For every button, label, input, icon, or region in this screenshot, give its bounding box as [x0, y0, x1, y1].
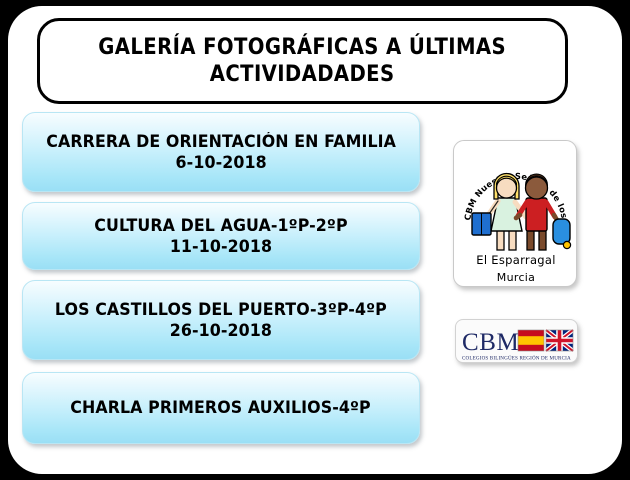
activity-name: CULTURA DEL AGUA-1ºP-2ºP — [94, 216, 347, 235]
activity-item-1[interactable]: CARRERA DE ORIENTACIÓN EN FAMILIA 6-10-2… — [22, 112, 420, 192]
activity-text: CARRERA DE ORIENTACIÓN EN FAMILIA 6-10-2… — [46, 131, 396, 173]
activity-text: LOS CASTILLOS DEL PUERTO-3ºP-4ºP 26-10-2… — [55, 299, 387, 341]
activity-item-4[interactable]: CHARLA PRIMEROS AUXILIOS-4ºP — [22, 372, 420, 444]
activity-name: CARRERA DE ORIENTACIÓN EN FAMILIA — [46, 132, 396, 151]
united-kingdom-flag-icon — [546, 330, 573, 351]
svg-text:Murcia: Murcia — [497, 271, 535, 284]
cbm-acronym: CBM — [462, 329, 519, 356]
cbm-tagline: COLEGIOS BILINGÜES REGIÓN DE MURCIA — [462, 354, 571, 362]
activity-name: CHARLA PRIMEROS AUXILIOS-4ºP — [71, 398, 372, 417]
page-title-line-1: GALERÍA FOTOGRÁFICAS A ÚLTIMAS — [99, 34, 507, 60]
activity-item-2[interactable]: CULTURA DEL AGUA-1ºP-2ºP 11-10-2018 — [22, 202, 420, 270]
spain-flag-icon — [518, 330, 544, 351]
two-children-holding-hands-icon: CBM Nuestra Señora de los Ángeles — [454, 141, 577, 287]
activity-text: CULTURA DEL AGUA-1ºP-2ºP 11-10-2018 — [94, 215, 347, 257]
cbm-logo-card: CBM COLEGIOS BILINGÜES REGI — [455, 319, 578, 363]
activity-date: 6-10-2018 — [46, 152, 396, 173]
poster-frame: GALERÍA FOTOGRÁFICAS A ÚLTIMAS ACTIVIDAD… — [0, 0, 630, 480]
page-title: GALERÍA FOTOGRÁFICAS A ÚLTIMAS ACTIVIDAD… — [99, 34, 507, 87]
school-logo-card: CBM Nuestra Señora de los Ángeles — [453, 140, 577, 287]
page-title-line-2: ACTIVIDADADES — [99, 61, 507, 88]
activity-item-3[interactable]: LOS CASTILLOS DEL PUERTO-3ºP-4ºP 26-10-2… — [22, 280, 420, 360]
cbm-brand-logo: CBM COLEGIOS BILINGÜES REGI — [456, 320, 578, 363]
activity-date: 11-10-2018 — [94, 236, 347, 257]
activity-name: LOS CASTILLOS DEL PUERTO-3ºP-4ºP — [55, 300, 387, 319]
svg-text:El Esparragal: El Esparragal — [476, 253, 555, 267]
activity-date: 26-10-2018 — [55, 320, 387, 341]
poster-page: GALERÍA FOTOGRÁFICAS A ÚLTIMAS ACTIVIDAD… — [8, 6, 622, 474]
activity-text: CHARLA PRIMEROS AUXILIOS-4ºP — [71, 397, 372, 418]
page-title-banner: GALERÍA FOTOGRÁFICAS A ÚLTIMAS ACTIVIDAD… — [37, 18, 568, 104]
